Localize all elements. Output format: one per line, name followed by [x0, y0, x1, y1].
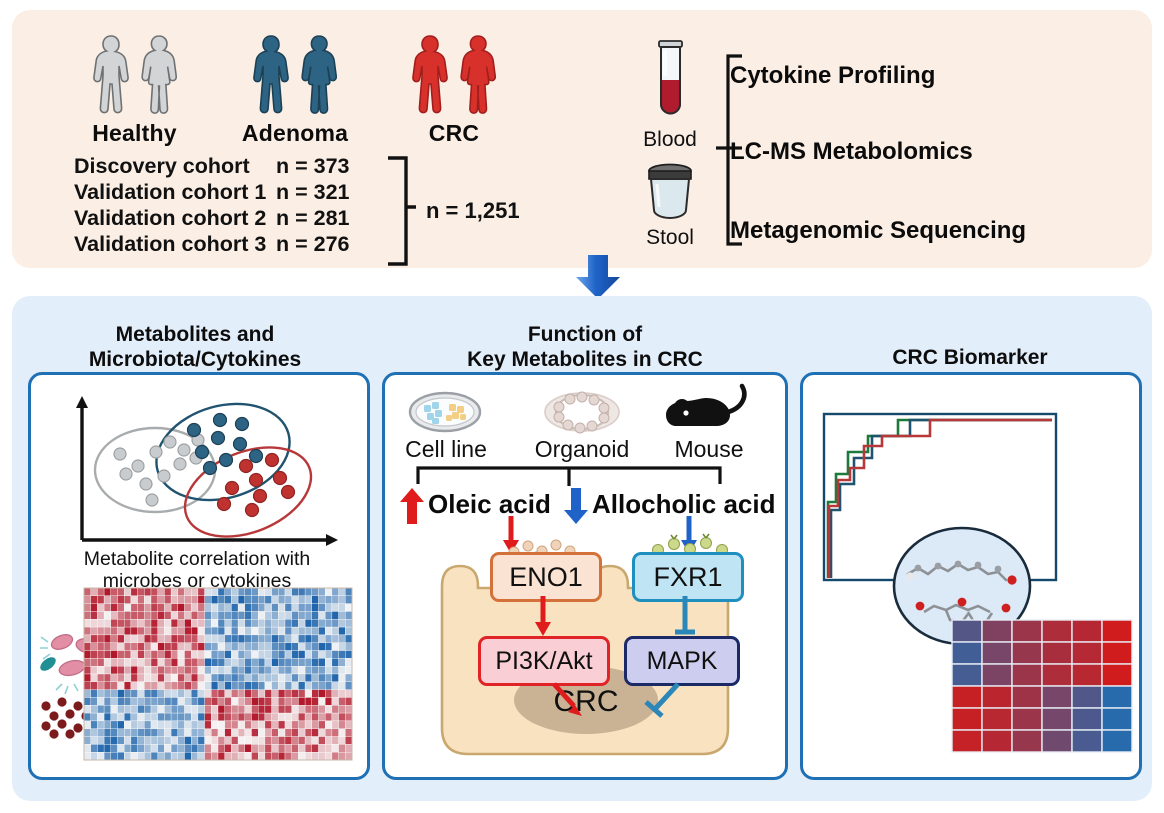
assay-lcms-metabolomics: LC-MS Metabolomics	[730, 138, 973, 166]
model-label-mouse: Mouse	[662, 436, 756, 463]
cohort-n: n = 321	[276, 179, 388, 205]
cohort-n: n = 373	[276, 153, 388, 179]
pca-scatter-plot	[60, 392, 350, 552]
pathway-mapk: MAPK	[624, 636, 740, 686]
healthy-figures	[72, 30, 197, 118]
sample-label-blood: Blood	[628, 128, 712, 152]
panel-title-function: Function of Key Metabolites in CRC	[405, 322, 765, 372]
cohort-name: Discovery cohort	[74, 153, 276, 179]
cohort-label-healthy: Healthy	[72, 120, 197, 147]
sample-stool: Stool	[628, 160, 712, 250]
scatter-caption: Metabolite correlation with microbes or …	[42, 548, 352, 592]
panel-title-line1: Function of	[405, 322, 765, 347]
cohort-row: Discovery cohort n = 373	[74, 153, 388, 179]
cohort-group-crc: CRC	[394, 30, 514, 147]
arrow-pi3k-to-crc	[548, 682, 594, 724]
cohort-row: Validation cohort 3 n = 276	[74, 231, 388, 257]
receptor-fxr1: FXR1	[632, 552, 744, 602]
stool-container-icon	[637, 160, 703, 226]
panel-title-line2: Key Metabolites in CRC	[405, 347, 765, 372]
assay-cytokine-profiling: Cytokine Profiling	[730, 62, 935, 90]
cohort-name: Validation cohort 3	[74, 231, 276, 257]
up-arrow-icon-oleic	[398, 486, 426, 526]
cohort-n: n = 276	[276, 231, 388, 257]
assay-metagenomic-sequencing: Metagenomic Sequencing	[730, 217, 1026, 245]
model-label-cell-line: Cell line	[398, 436, 494, 463]
panel-title-line1: CRC Biomarker	[810, 345, 1130, 370]
mouse-icon	[664, 382, 760, 436]
cohort-table: Discovery cohort n = 373 Validation coho…	[74, 153, 388, 257]
person-icon-male	[248, 32, 294, 118]
receptor-eno1: ENO1	[490, 552, 602, 602]
pathway-pi3k-akt: PI3K/Akt	[478, 636, 610, 686]
models-bracket	[414, 462, 724, 488]
cohort-name: Validation cohort 1	[74, 179, 276, 205]
cohort-label-adenoma: Adenoma	[230, 120, 360, 147]
inhibition-fxr1-to-mapk	[672, 596, 698, 638]
person-icon-female	[455, 32, 501, 118]
biomarker-heatmap	[952, 620, 1132, 752]
oxygen-atom	[1007, 575, 1016, 584]
cohort-name: Validation cohort 2	[74, 205, 276, 231]
person-icon-male	[407, 32, 453, 118]
down-arrow-icon-allocholic	[562, 486, 590, 526]
down-arrow-icon	[573, 253, 623, 301]
inhibition-mapk-to-crc	[640, 682, 686, 724]
cohort-label-crc: CRC	[394, 120, 514, 147]
panel-title-line2: Microbiota/Cytokines	[30, 347, 360, 372]
cohort-group-healthy: Healthy	[72, 30, 197, 147]
panel-title-line1: Metabolites and	[30, 322, 360, 347]
cohort-row: Validation cohort 2 n = 281	[74, 205, 388, 231]
petri-dish-icon	[408, 388, 482, 434]
adenoma-figures	[230, 30, 360, 118]
cohort-n: n = 281	[276, 205, 388, 231]
sample-blood: Blood	[628, 36, 712, 152]
caption-line1: Metabolite correlation with	[42, 548, 352, 570]
metabolite-oleic-acid: Oleic acid	[428, 489, 551, 520]
organoid-icon	[542, 388, 622, 434]
crc-figures	[394, 30, 514, 118]
correlation-heatmap	[84, 588, 352, 760]
cohort-brace	[386, 155, 424, 265]
model-label-organoid: Organoid	[532, 436, 632, 463]
person-icon-female	[296, 32, 342, 118]
panel-title-metabolites: Metabolites and Microbiota/Cytokines	[30, 322, 360, 372]
cohort-group-adenoma: Adenoma	[230, 30, 360, 147]
total-sample-size: n = 1,251	[426, 198, 520, 224]
sample-label-stool: Stool	[628, 226, 712, 250]
study-design-panel: Healthy Adenoma CRC Discovery cohort	[12, 10, 1152, 268]
cohort-row: Validation cohort 1 n = 321	[74, 179, 388, 205]
arrow-eno1-to-pi3k	[530, 596, 556, 638]
person-icon-female	[136, 32, 182, 118]
person-icon-male	[88, 32, 134, 118]
blood-tube-icon	[642, 36, 698, 128]
panel-title-biomarker: CRC Biomarker	[810, 345, 1130, 370]
